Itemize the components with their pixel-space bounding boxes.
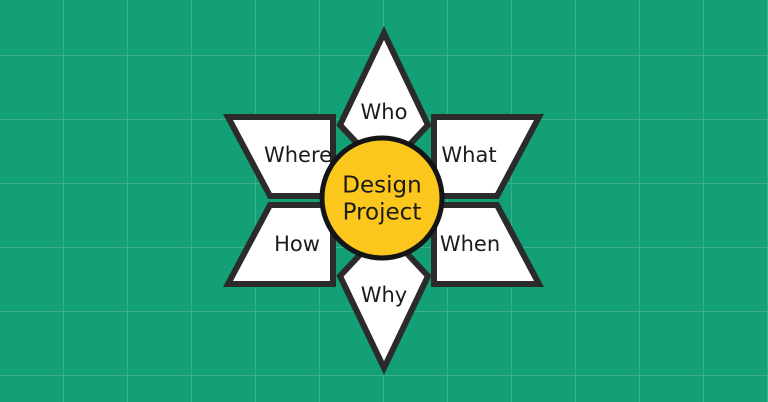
petal-label-what: What — [441, 143, 496, 167]
center-hub-label: Design Project — [342, 173, 421, 226]
diagram-canvas: Who What When Why How Where Design Proje… — [0, 0, 768, 402]
petal-label-why: Why — [361, 283, 408, 307]
star-diagram: Who What When Why How Where Design Proje… — [0, 0, 768, 402]
petal-label-how: How — [274, 232, 320, 256]
petal-label-who: Who — [361, 100, 408, 124]
petal-label-when: When — [440, 232, 500, 256]
center-label-line2: Project — [343, 200, 422, 226]
center-label-line1: Design — [342, 173, 421, 199]
petal-label-where: Where — [264, 143, 332, 167]
